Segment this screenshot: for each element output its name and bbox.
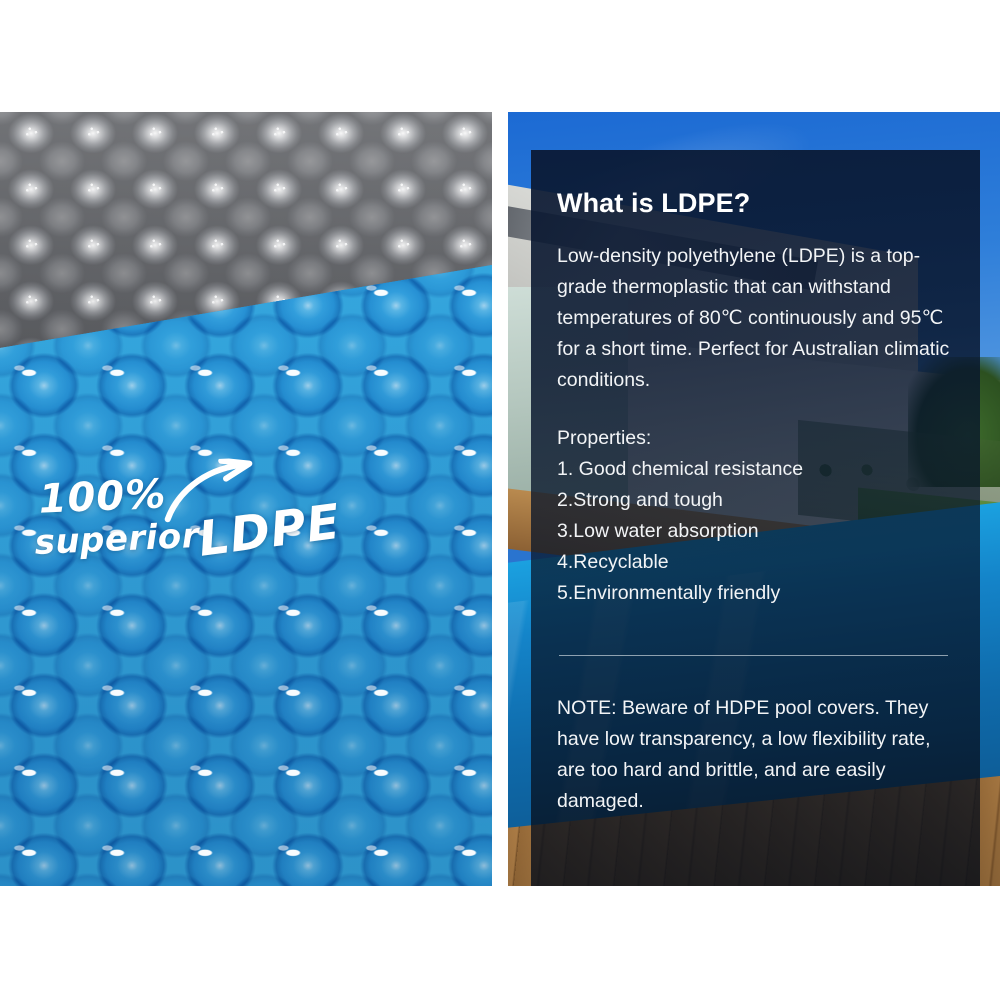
information-panel: What is LDPE? Low-density polyethylene (… [508,112,1000,886]
text-overlay-card: What is LDPE? Low-density polyethylene (… [531,150,980,886]
list-item: 4.Recyclable [557,547,952,578]
product-photo-panel: 100% superior LDPE [0,112,492,886]
properties-list: 1. Good chemical resistance 2.Strong and… [557,454,952,609]
list-item: 1. Good chemical resistance [557,454,952,485]
section-divider [559,655,948,656]
infographic-canvas: 100% superior LDPE What is LDPE? Low-den… [0,0,1000,1000]
properties-heading: Properties: [557,423,952,454]
panel-paragraph: Low-density polyethylene (LDPE) is a top… [557,241,952,396]
list-item: 3.Low water absorption [557,516,952,547]
list-item: 5.Environmentally friendly [557,578,952,609]
list-item: 2.Strong and tough [557,485,952,516]
note-text: NOTE: Beware of HDPE pool covers. They h… [557,693,952,817]
panel-title: What is LDPE? [557,188,952,219]
